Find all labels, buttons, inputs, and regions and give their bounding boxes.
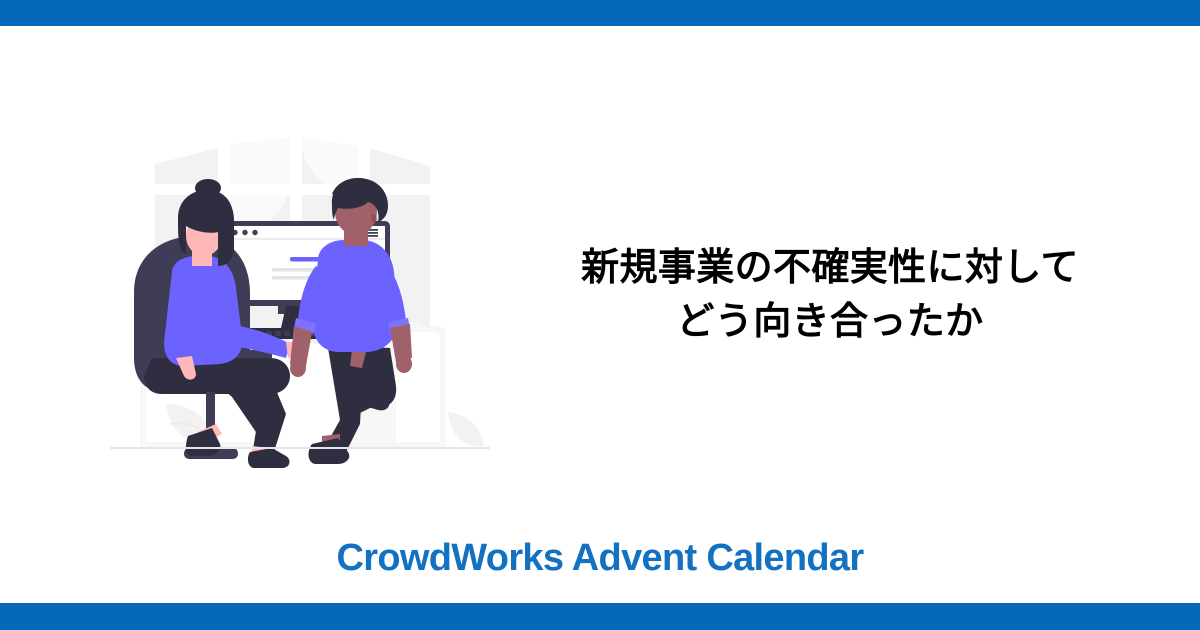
footer-wordmark: CrowdWorks Advent Calendar	[0, 537, 1200, 580]
card-content: 新規事業の不確実性に対して どう向き合ったか CrowdWorks Advent…	[0, 26, 1200, 603]
accent-bar	[290, 257, 320, 262]
top-brand-bar	[0, 0, 1200, 26]
ogp-card: 新規事業の不確実性に対して どう向き合ったか CrowdWorks Advent…	[0, 0, 1200, 630]
page-title-line-1: 新規事業の不確実性に対して	[520, 241, 1140, 295]
illustration	[100, 136, 500, 496]
bottom-brand-bar	[0, 603, 1200, 630]
window-dot-yellow	[242, 230, 247, 235]
leaf-decoration-right	[448, 412, 484, 446]
wordmark-text: CrowdWorks Advent Calendar	[337, 537, 864, 579]
page-title: 新規事業の不確実性に対して どう向き合ったか	[520, 241, 1140, 349]
window-dot-green	[252, 230, 257, 235]
page-title-line-2: どう向き合ったか	[520, 295, 1140, 349]
